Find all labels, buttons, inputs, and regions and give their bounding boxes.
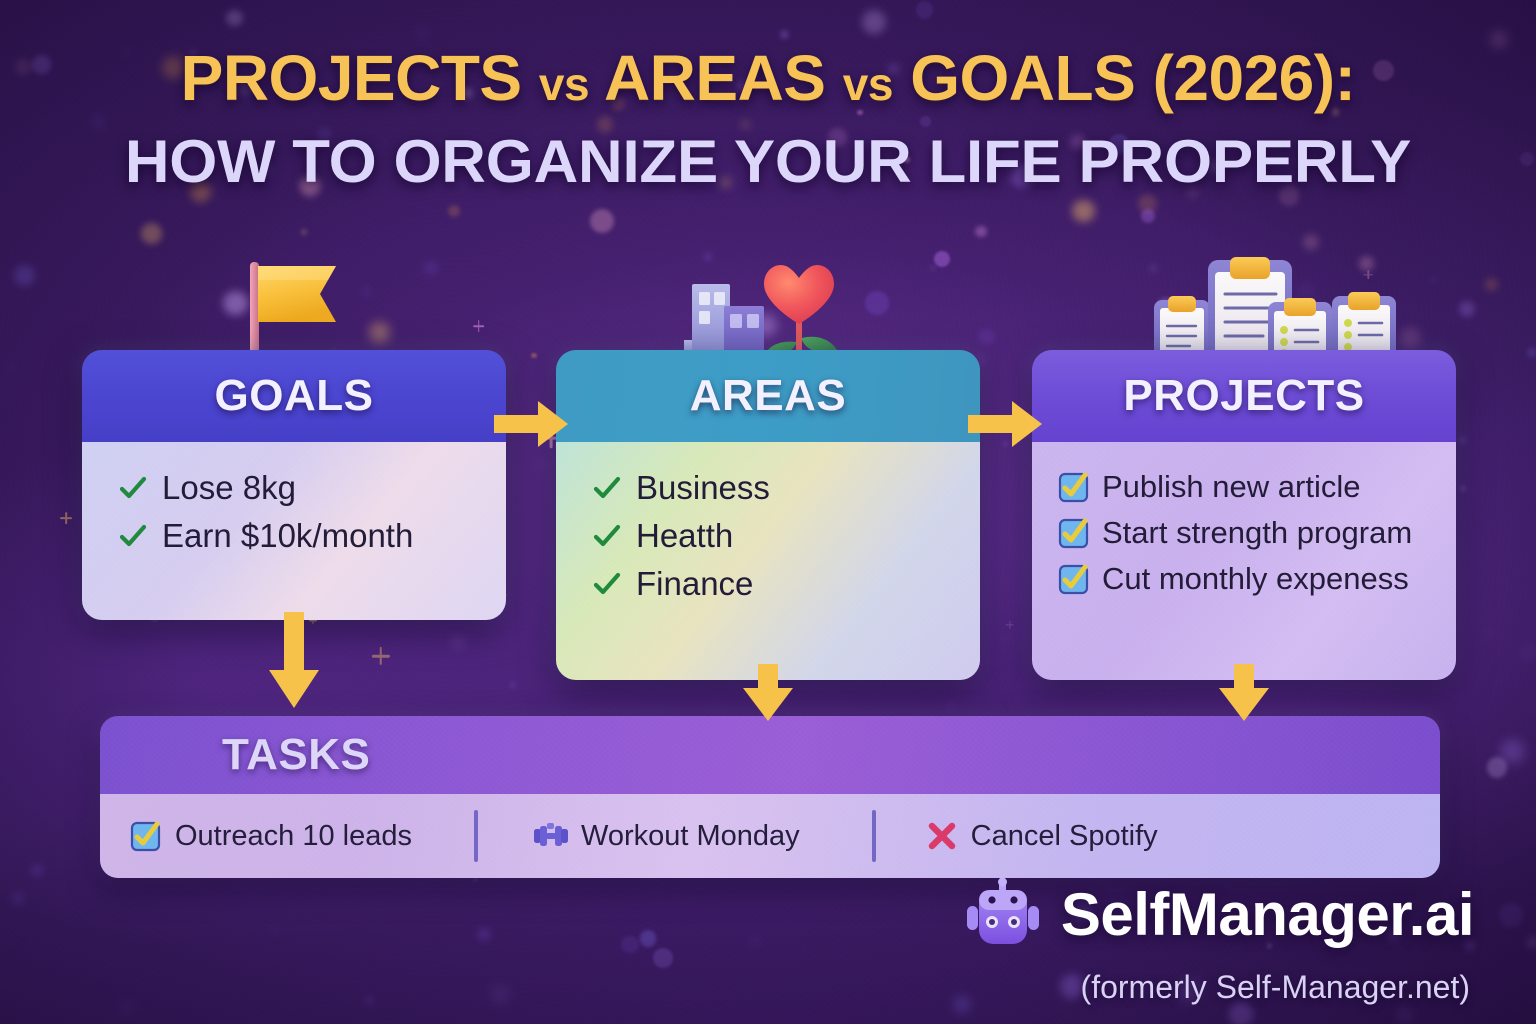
- title-vs-1: vs: [539, 58, 589, 110]
- arrow-projects-to-tasks-icon: [1216, 664, 1272, 724]
- brand-logo-block[interactable]: SelfManager.ai: [967, 878, 1474, 950]
- card-projects-header: PROJECTS: [1032, 350, 1456, 442]
- red-x-icon: [926, 820, 958, 852]
- card-areas-header: AREAS: [556, 350, 980, 442]
- task-item-label: Outreach 10 leads: [175, 820, 412, 853]
- arrow-areas-to-projects-icon: [968, 396, 1044, 452]
- card-areas-body: Business Heatth Finance: [556, 442, 980, 680]
- checked-box-icon: [1058, 563, 1090, 595]
- list-item-label: Lose 8kg: [162, 469, 296, 507]
- list-item-label: Start strength program: [1102, 515, 1412, 551]
- list-item[interactable]: Finance: [556, 560, 980, 608]
- list-item[interactable]: Lose 8kg: [82, 464, 506, 512]
- title-line-secondary: HOW TO ORGANIZE YOUR LIFE PROPERLY: [0, 132, 1536, 192]
- dumbbell-icon: [534, 823, 568, 849]
- title-year: (2026):: [1153, 42, 1356, 114]
- brand-subtitle: (formerly Self-Manager.net): [1081, 969, 1470, 1006]
- list-item-label: Publish new article: [1102, 469, 1360, 505]
- list-item[interactable]: Start strength program: [1032, 510, 1456, 556]
- list-item[interactable]: Earn $10k/month: [82, 512, 506, 560]
- card-projects-title: PROJECTS: [1123, 371, 1364, 421]
- arrow-areas-to-tasks-icon: [740, 664, 796, 724]
- card-areas[interactable]: AREAS Business Heatth Finance: [556, 350, 980, 680]
- tasks-header: TASKS: [100, 716, 1440, 794]
- task-item-workout[interactable]: Workout Monday: [534, 820, 800, 853]
- card-goals[interactable]: GOALS Lose 8kg Earn $10k/month: [82, 350, 506, 620]
- card-goals-header: GOALS: [82, 350, 506, 442]
- checked-box-icon: [1058, 471, 1090, 503]
- clipboards-icon: [1150, 256, 1400, 360]
- card-areas-title: AREAS: [690, 371, 847, 421]
- title-line-primary: PROJECTS vs AREAS vs GOALS (2026):: [0, 46, 1536, 110]
- title-block: PROJECTS vs AREAS vs GOALS (2026): HOW T…: [0, 46, 1536, 192]
- tasks-title: TASKS: [222, 730, 370, 780]
- arrow-goals-to-areas-icon: [494, 396, 570, 452]
- task-divider: [872, 810, 876, 862]
- card-projects-body: Publish new article Start strength progr…: [1032, 442, 1456, 680]
- arrow-goals-to-tasks-icon: [266, 612, 322, 712]
- card-goals-body: Lose 8kg Earn $10k/month: [82, 442, 506, 620]
- list-item[interactable]: Business: [556, 464, 980, 512]
- list-item-label: Finance: [636, 565, 753, 603]
- green-check-icon: [592, 569, 622, 599]
- title-word-areas: AREAS: [604, 42, 826, 114]
- list-item[interactable]: Cut monthly expeness: [1032, 556, 1456, 602]
- title-vs-2: vs: [843, 58, 893, 110]
- green-check-icon: [592, 521, 622, 551]
- brand-name: SelfManager.ai: [1061, 880, 1474, 949]
- task-item-cancel[interactable]: Cancel Spotify: [926, 820, 1158, 853]
- green-check-icon: [118, 473, 148, 503]
- list-item-label: Cut monthly expeness: [1102, 561, 1409, 597]
- task-item-outreach[interactable]: Outreach 10 leads: [130, 820, 412, 853]
- buildings-heart-plant-icon: [668, 258, 868, 358]
- list-item[interactable]: Publish new article: [1032, 464, 1456, 510]
- task-item-label: Workout Monday: [581, 820, 800, 853]
- green-check-icon: [592, 473, 622, 503]
- list-item-label: Earn $10k/month: [162, 517, 413, 555]
- list-item-label: Heatth: [636, 517, 733, 555]
- task-item-label: Cancel Spotify: [971, 820, 1158, 853]
- checked-box-icon: [130, 820, 162, 852]
- green-check-icon: [118, 521, 148, 551]
- list-item-label: Business: [636, 469, 770, 507]
- checked-box-icon: [1058, 517, 1090, 549]
- title-word-projects: PROJECTS: [181, 42, 522, 114]
- card-goals-title: GOALS: [215, 371, 374, 421]
- list-item[interactable]: Heatth: [556, 512, 980, 560]
- card-projects[interactable]: PROJECTS Publish new article Start stren…: [1032, 350, 1456, 680]
- robot-icon: [967, 878, 1039, 950]
- flag-icon: [232, 252, 364, 360]
- tasks-bar[interactable]: TASKS Outreach 10 leads Workout Monday: [100, 716, 1440, 878]
- task-divider: [474, 810, 478, 862]
- tasks-body: Outreach 10 leads Workout Monday Cancel …: [100, 794, 1440, 878]
- title-word-goals: GOALS: [910, 42, 1135, 114]
